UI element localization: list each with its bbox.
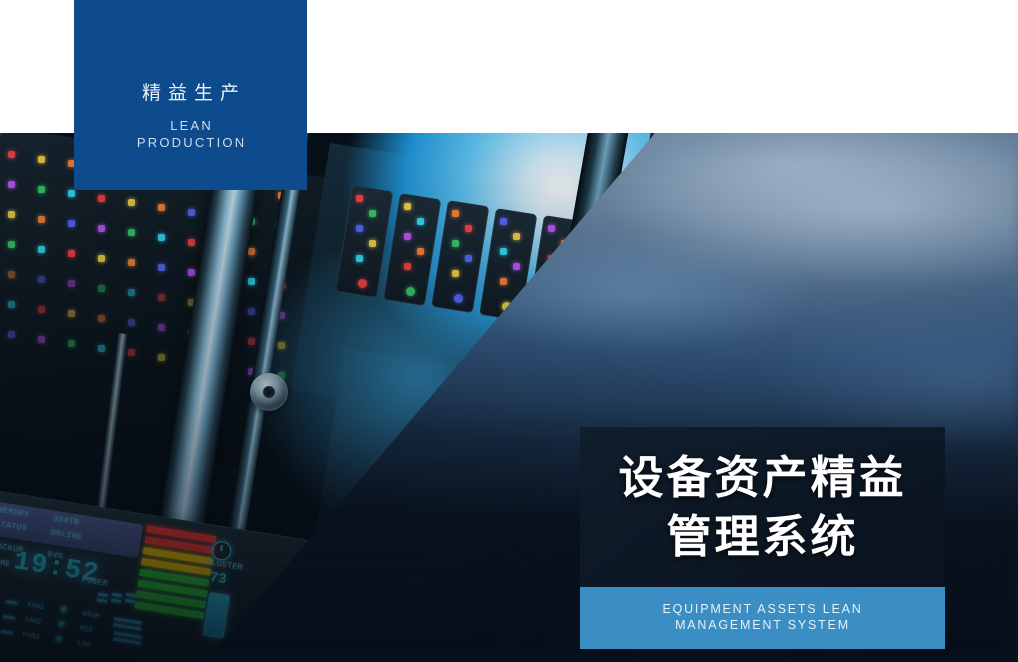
badge-english-title: LEAN PRODUCTION xyxy=(74,117,307,151)
subtitle-line2: MANAGEMENT SYSTEM xyxy=(580,617,945,633)
title-chinese-line2: 管理系统 xyxy=(666,507,858,566)
lean-production-badge: 精益生产 LEAN PRODUCTION xyxy=(74,0,307,190)
badge-chinese-title: 精益生产 xyxy=(74,78,307,105)
badge-english-line2: PRODUCTION xyxy=(74,134,307,151)
title-chinese-line1: 设备资产精益 xyxy=(618,448,906,507)
title-card-heading: 设备资产精益 管理系统 xyxy=(580,427,945,587)
poster-canvas: MEMORY 384TB STATUS ONLINE BACKUP 84% TI… xyxy=(0,0,1018,662)
badge-english-line1: LEAN xyxy=(74,117,307,134)
subtitle-line1: EQUIPMENT ASSETS LEAN xyxy=(580,601,945,617)
title-card-subtitle: EQUIPMENT ASSETS LEAN MANAGEMENT SYSTEM xyxy=(580,587,945,649)
title-card: 设备资产精益 管理系统 EQUIPMENT ASSETS LEAN MANAGE… xyxy=(580,427,945,649)
